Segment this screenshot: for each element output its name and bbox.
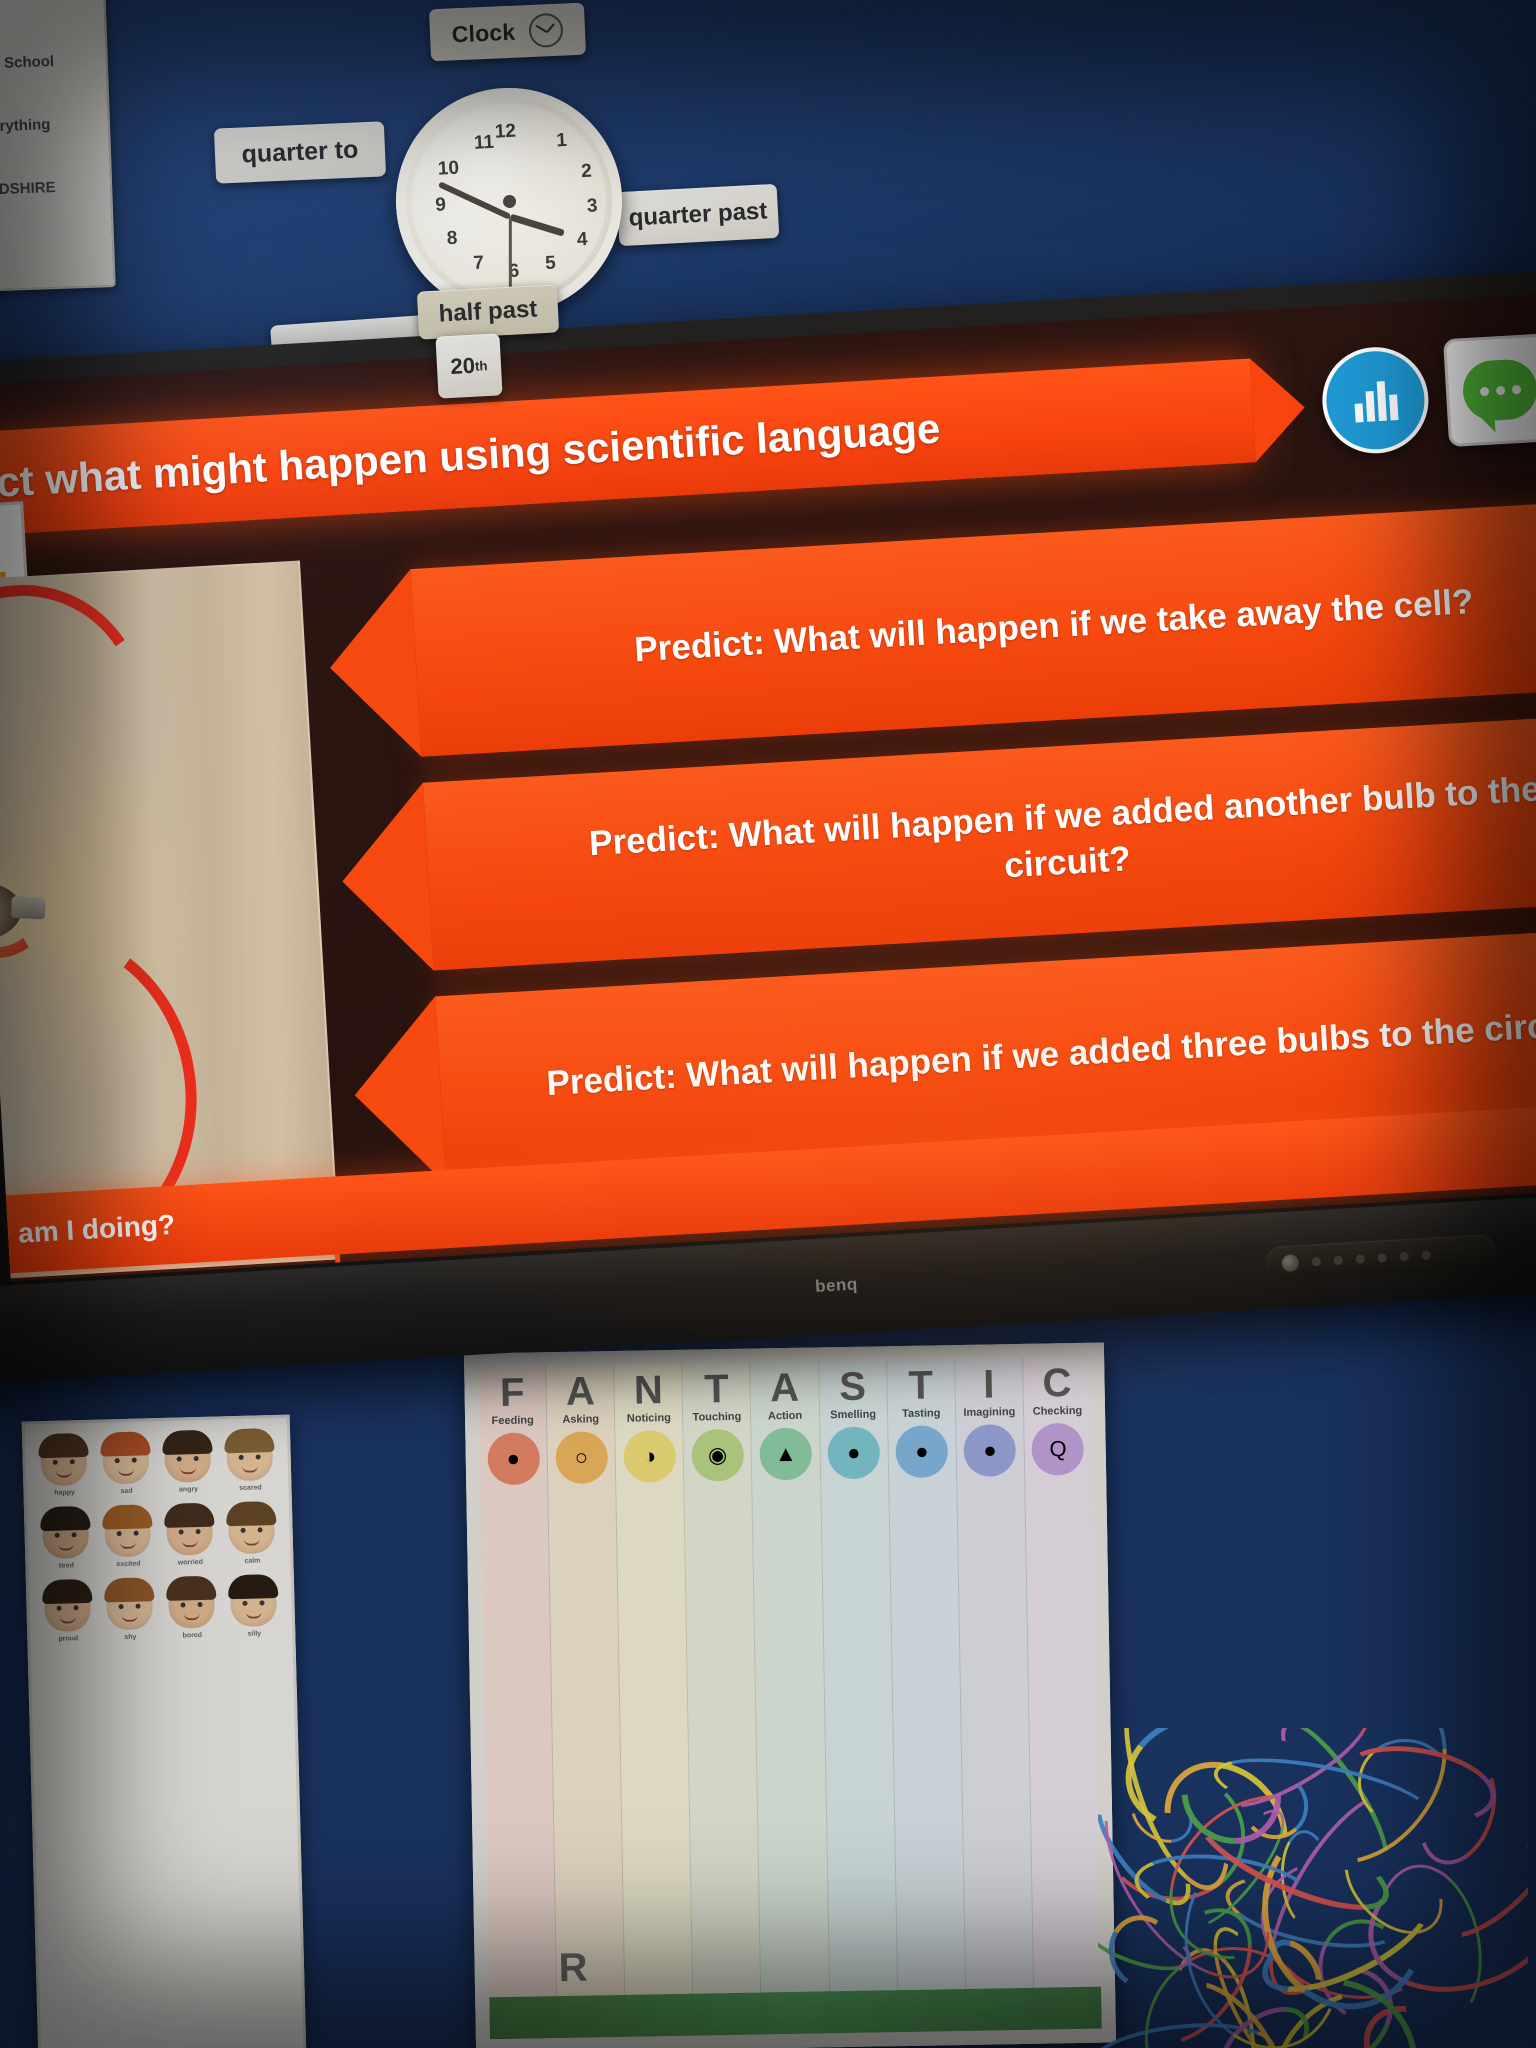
prediction-text-2: Predict: What will happen if we added an… xyxy=(521,762,1536,917)
hair-shape xyxy=(228,1574,279,1599)
face-icon xyxy=(42,1510,89,1559)
emotion-face-cell: proud xyxy=(39,1583,97,1643)
hair-shape xyxy=(102,1504,153,1529)
ir-dot-1 xyxy=(1312,1256,1322,1266)
emotion-face-cell: shy xyxy=(101,1581,159,1641)
fantastic-word: Asking xyxy=(562,1413,599,1426)
eye-left xyxy=(177,1456,182,1461)
prediction-text-3: Predict: What will happen if we added th… xyxy=(545,1000,1536,1107)
face-icon xyxy=(44,1583,91,1632)
fantastic-sense-icon: ● xyxy=(964,1424,1017,1477)
quarter-past-text: quarter past xyxy=(628,197,768,232)
emotion-face-cell: angry xyxy=(159,1434,217,1494)
clock-num-10: 10 xyxy=(435,158,462,178)
eye-left xyxy=(242,1601,247,1606)
page-title: ict what might happen using scientific l… xyxy=(0,404,941,507)
face-label: worried xyxy=(178,1559,203,1567)
emotion-face-cell: calm xyxy=(223,1505,281,1565)
mouth-shape xyxy=(180,1467,196,1474)
hair-shape xyxy=(226,1501,277,1526)
school-card-line1: y School xyxy=(0,52,54,71)
hair-shape xyxy=(100,1431,151,1456)
face-icon xyxy=(164,1434,211,1483)
eye-right xyxy=(135,1604,140,1609)
ir-sensor-bar xyxy=(1265,1234,1497,1281)
fantastic-sense-icon: ▲ xyxy=(759,1428,812,1481)
fantastic-word: Tasting xyxy=(902,1407,941,1420)
eye-right xyxy=(194,1456,199,1461)
fantastic-word: Smelling xyxy=(830,1408,876,1421)
quarter-past-card: quarter past xyxy=(617,184,780,246)
face-label: sad xyxy=(120,1488,132,1495)
face-icon xyxy=(168,1580,215,1629)
clock-num-11: 11 xyxy=(471,133,498,153)
mouth-shape xyxy=(56,1470,72,1477)
interactive-whiteboard: ict what might happen using scientific l… xyxy=(0,269,1536,1386)
fantastic-poster: FFeeding●AAsking○NNoticing◑TTouching◉AAc… xyxy=(464,1342,1116,2048)
emotion-face-cell: scared xyxy=(221,1432,279,1492)
prediction-arrow-2[interactable]: Predict: What will happen if we added an… xyxy=(423,712,1536,970)
eye-left xyxy=(117,1531,122,1536)
fantastic-sense-icon: ● xyxy=(827,1426,880,1479)
clock-hour-hand xyxy=(509,214,565,237)
fantastic-letter: I xyxy=(983,1364,995,1404)
fantastic-sense-icon: ○ xyxy=(555,1431,608,1484)
fantastic-letter: N xyxy=(634,1370,664,1410)
clock-num-8: 8 xyxy=(439,228,466,248)
face-label: tired xyxy=(59,1562,74,1569)
eye-right xyxy=(134,1531,139,1536)
prediction-arrow-list: Predict: What will happen if we take awa… xyxy=(411,499,1536,1184)
hair-shape xyxy=(38,1433,89,1458)
screenshot-root: y School rything DSHIRE Clock quarter to… xyxy=(0,0,1536,2048)
fantastic-letter: S xyxy=(839,1367,866,1407)
fantastic-sense-icon: ◑ xyxy=(623,1430,676,1483)
face-label: happy xyxy=(54,1489,75,1497)
bottom-strip-text: am I doing? xyxy=(17,1209,176,1250)
clock-num-6: 6 xyxy=(501,261,528,281)
clock-num-5: 5 xyxy=(537,253,564,273)
fantastic-letter: C xyxy=(1042,1363,1072,1403)
fantastic-word: Imagining xyxy=(963,1406,1015,1419)
hair-shape xyxy=(224,1428,275,1453)
crocodile-clip-right xyxy=(11,896,46,920)
fantastic-letter: T xyxy=(704,1369,729,1409)
school-card-line2: rything xyxy=(0,116,51,135)
emotion-face-cell: excited xyxy=(99,1508,157,1568)
mouth-shape xyxy=(246,1611,262,1618)
fantastic-word: Touching xyxy=(693,1411,742,1424)
quarter-to-text: quarter to xyxy=(241,135,359,169)
quarter-to-card: quarter to xyxy=(214,121,386,183)
fantastic-letter: A xyxy=(770,1368,800,1408)
eye-left xyxy=(118,1604,123,1609)
half-past-text: half past xyxy=(438,295,538,328)
clock-num-4: 4 xyxy=(569,230,596,250)
face-icon xyxy=(228,1505,275,1554)
mouth-shape xyxy=(58,1543,74,1550)
circuit-photo xyxy=(0,560,340,1281)
face-icon xyxy=(106,1581,153,1630)
clock-num-7: 7 xyxy=(465,253,492,273)
fantastic-letter: A xyxy=(565,1371,595,1411)
emotion-face-cell: worried xyxy=(161,1507,219,1567)
face-icon xyxy=(102,1435,149,1484)
face-label: shy xyxy=(124,1634,136,1641)
speech-dot-1 xyxy=(1479,386,1489,396)
half-past-card: half past xyxy=(417,284,559,339)
speech-dot-2 xyxy=(1495,385,1505,395)
fantastic-word: Noticing xyxy=(627,1412,671,1425)
hair-shape xyxy=(42,1579,93,1604)
face-label: bored xyxy=(183,1632,203,1640)
hair-shape xyxy=(164,1503,215,1528)
clock-centre-pin xyxy=(502,194,516,208)
mouth-shape xyxy=(184,1613,200,1620)
fantastic-sense-icon: ● xyxy=(487,1432,540,1485)
clock-num-1: 1 xyxy=(548,130,575,150)
emotion-face-cell: tired xyxy=(37,1510,95,1570)
day-number-card: 20th xyxy=(435,333,502,398)
tangled-wires xyxy=(1098,1728,1528,2048)
face-label: calm xyxy=(244,1557,260,1564)
mouth-shape xyxy=(244,1538,260,1545)
ir-dot-2 xyxy=(1334,1255,1344,1265)
bar-chart-icon[interactable] xyxy=(1319,344,1431,456)
eye-left xyxy=(57,1606,62,1611)
ir-receiver-icon xyxy=(1281,1254,1299,1272)
clock-label-card: Clock xyxy=(429,3,586,62)
emotions-grid: happysadangryscaredtiredexcitedworriedca… xyxy=(35,1432,282,1643)
clock-num-2: 2 xyxy=(573,161,600,181)
fantastic-letter: F xyxy=(500,1373,525,1413)
eye-right xyxy=(196,1529,201,1534)
speech-dot-3 xyxy=(1511,384,1521,394)
mouth-shape xyxy=(118,1469,134,1476)
hair-shape xyxy=(40,1506,91,1531)
clock-face: 12 1 2 3 4 5 6 7 8 9 10 11 xyxy=(407,99,611,303)
eye-right xyxy=(256,1454,261,1459)
benq-logo: BenQ xyxy=(815,1275,859,1297)
slide-title-ribbon: ict what might happen using scientific l… xyxy=(0,358,1256,544)
eye-left xyxy=(179,1529,184,1534)
eye-right xyxy=(259,1600,264,1605)
eye-left xyxy=(115,1458,120,1463)
day-number-text: 20 xyxy=(450,353,476,380)
ir-dot-6 xyxy=(1421,1250,1431,1260)
face-label: proud xyxy=(58,1635,78,1643)
school-card-line3: DSHIRE xyxy=(0,178,56,197)
face-icon xyxy=(104,1508,151,1557)
ir-dot-5 xyxy=(1399,1251,1409,1261)
eye-left xyxy=(180,1602,185,1607)
clock-icon xyxy=(529,13,564,48)
eye-right xyxy=(70,1459,75,1464)
eye-left xyxy=(55,1533,60,1538)
eye-right xyxy=(73,1605,78,1610)
face-label: silly xyxy=(247,1630,261,1637)
ir-dot-3 xyxy=(1356,1254,1366,1264)
emotions-faces-poster: happysadangryscaredtiredexcitedworriedca… xyxy=(22,1415,307,2048)
fantastic-letter: T xyxy=(908,1365,933,1405)
mouth-shape xyxy=(120,1542,136,1549)
fantastic-sense-icon: ◉ xyxy=(691,1429,744,1482)
fantastic-sense-icon: ● xyxy=(895,1425,948,1478)
prediction-arrow-1[interactable]: Predict: What will happen if we take awa… xyxy=(411,499,1536,757)
face-icon xyxy=(230,1578,277,1627)
emotion-face-cell: happy xyxy=(35,1437,93,1497)
clock-label-text: Clock xyxy=(451,18,516,48)
day-suffix: th xyxy=(475,358,488,374)
face-label: scared xyxy=(239,1484,262,1492)
whiteboard-screen[interactable]: ict what might happen using scientific l… xyxy=(0,293,1536,1282)
emotion-face-cell: silly xyxy=(225,1578,283,1638)
face-icon xyxy=(166,1507,213,1556)
clock-num-3: 3 xyxy=(579,196,606,216)
ir-dot-4 xyxy=(1378,1253,1388,1263)
mouth-shape xyxy=(242,1465,258,1472)
eye-right xyxy=(258,1527,263,1532)
emotion-face-cell: bored xyxy=(163,1580,221,1640)
face-icon xyxy=(226,1432,273,1481)
fantastic-letter-r: R xyxy=(558,1945,588,1990)
eye-left xyxy=(239,1455,244,1460)
mouth-shape xyxy=(60,1616,76,1623)
prediction-text-1: Predict: What will happen if we take awa… xyxy=(633,579,1474,673)
eye-left xyxy=(53,1460,58,1465)
face-label: angry xyxy=(179,1486,198,1493)
eye-right xyxy=(132,1458,137,1463)
face-label: excited xyxy=(116,1561,140,1569)
face-icon xyxy=(40,1437,87,1486)
hair-shape xyxy=(166,1576,217,1601)
hair-shape xyxy=(162,1430,213,1455)
mouth-shape xyxy=(182,1540,198,1547)
school-logo-card: y School rything DSHIRE xyxy=(0,0,116,293)
eye-left xyxy=(241,1528,246,1533)
speech-bubble-icon[interactable] xyxy=(1443,333,1536,447)
speech-bubble-shape xyxy=(1461,358,1536,422)
eye-right xyxy=(197,1602,202,1607)
eye-right xyxy=(72,1532,77,1537)
emotion-face-cell: sad xyxy=(97,1435,155,1495)
fantastic-sense-icon: Q xyxy=(1032,1423,1085,1476)
mouth-shape xyxy=(122,1615,138,1622)
fantastic-word: Checking xyxy=(1033,1405,1083,1418)
fantastic-word: Action xyxy=(768,1410,802,1423)
clock-num-9: 9 xyxy=(427,195,454,215)
hair-shape xyxy=(104,1577,155,1602)
fantastic-word: Feeding xyxy=(491,1414,533,1427)
